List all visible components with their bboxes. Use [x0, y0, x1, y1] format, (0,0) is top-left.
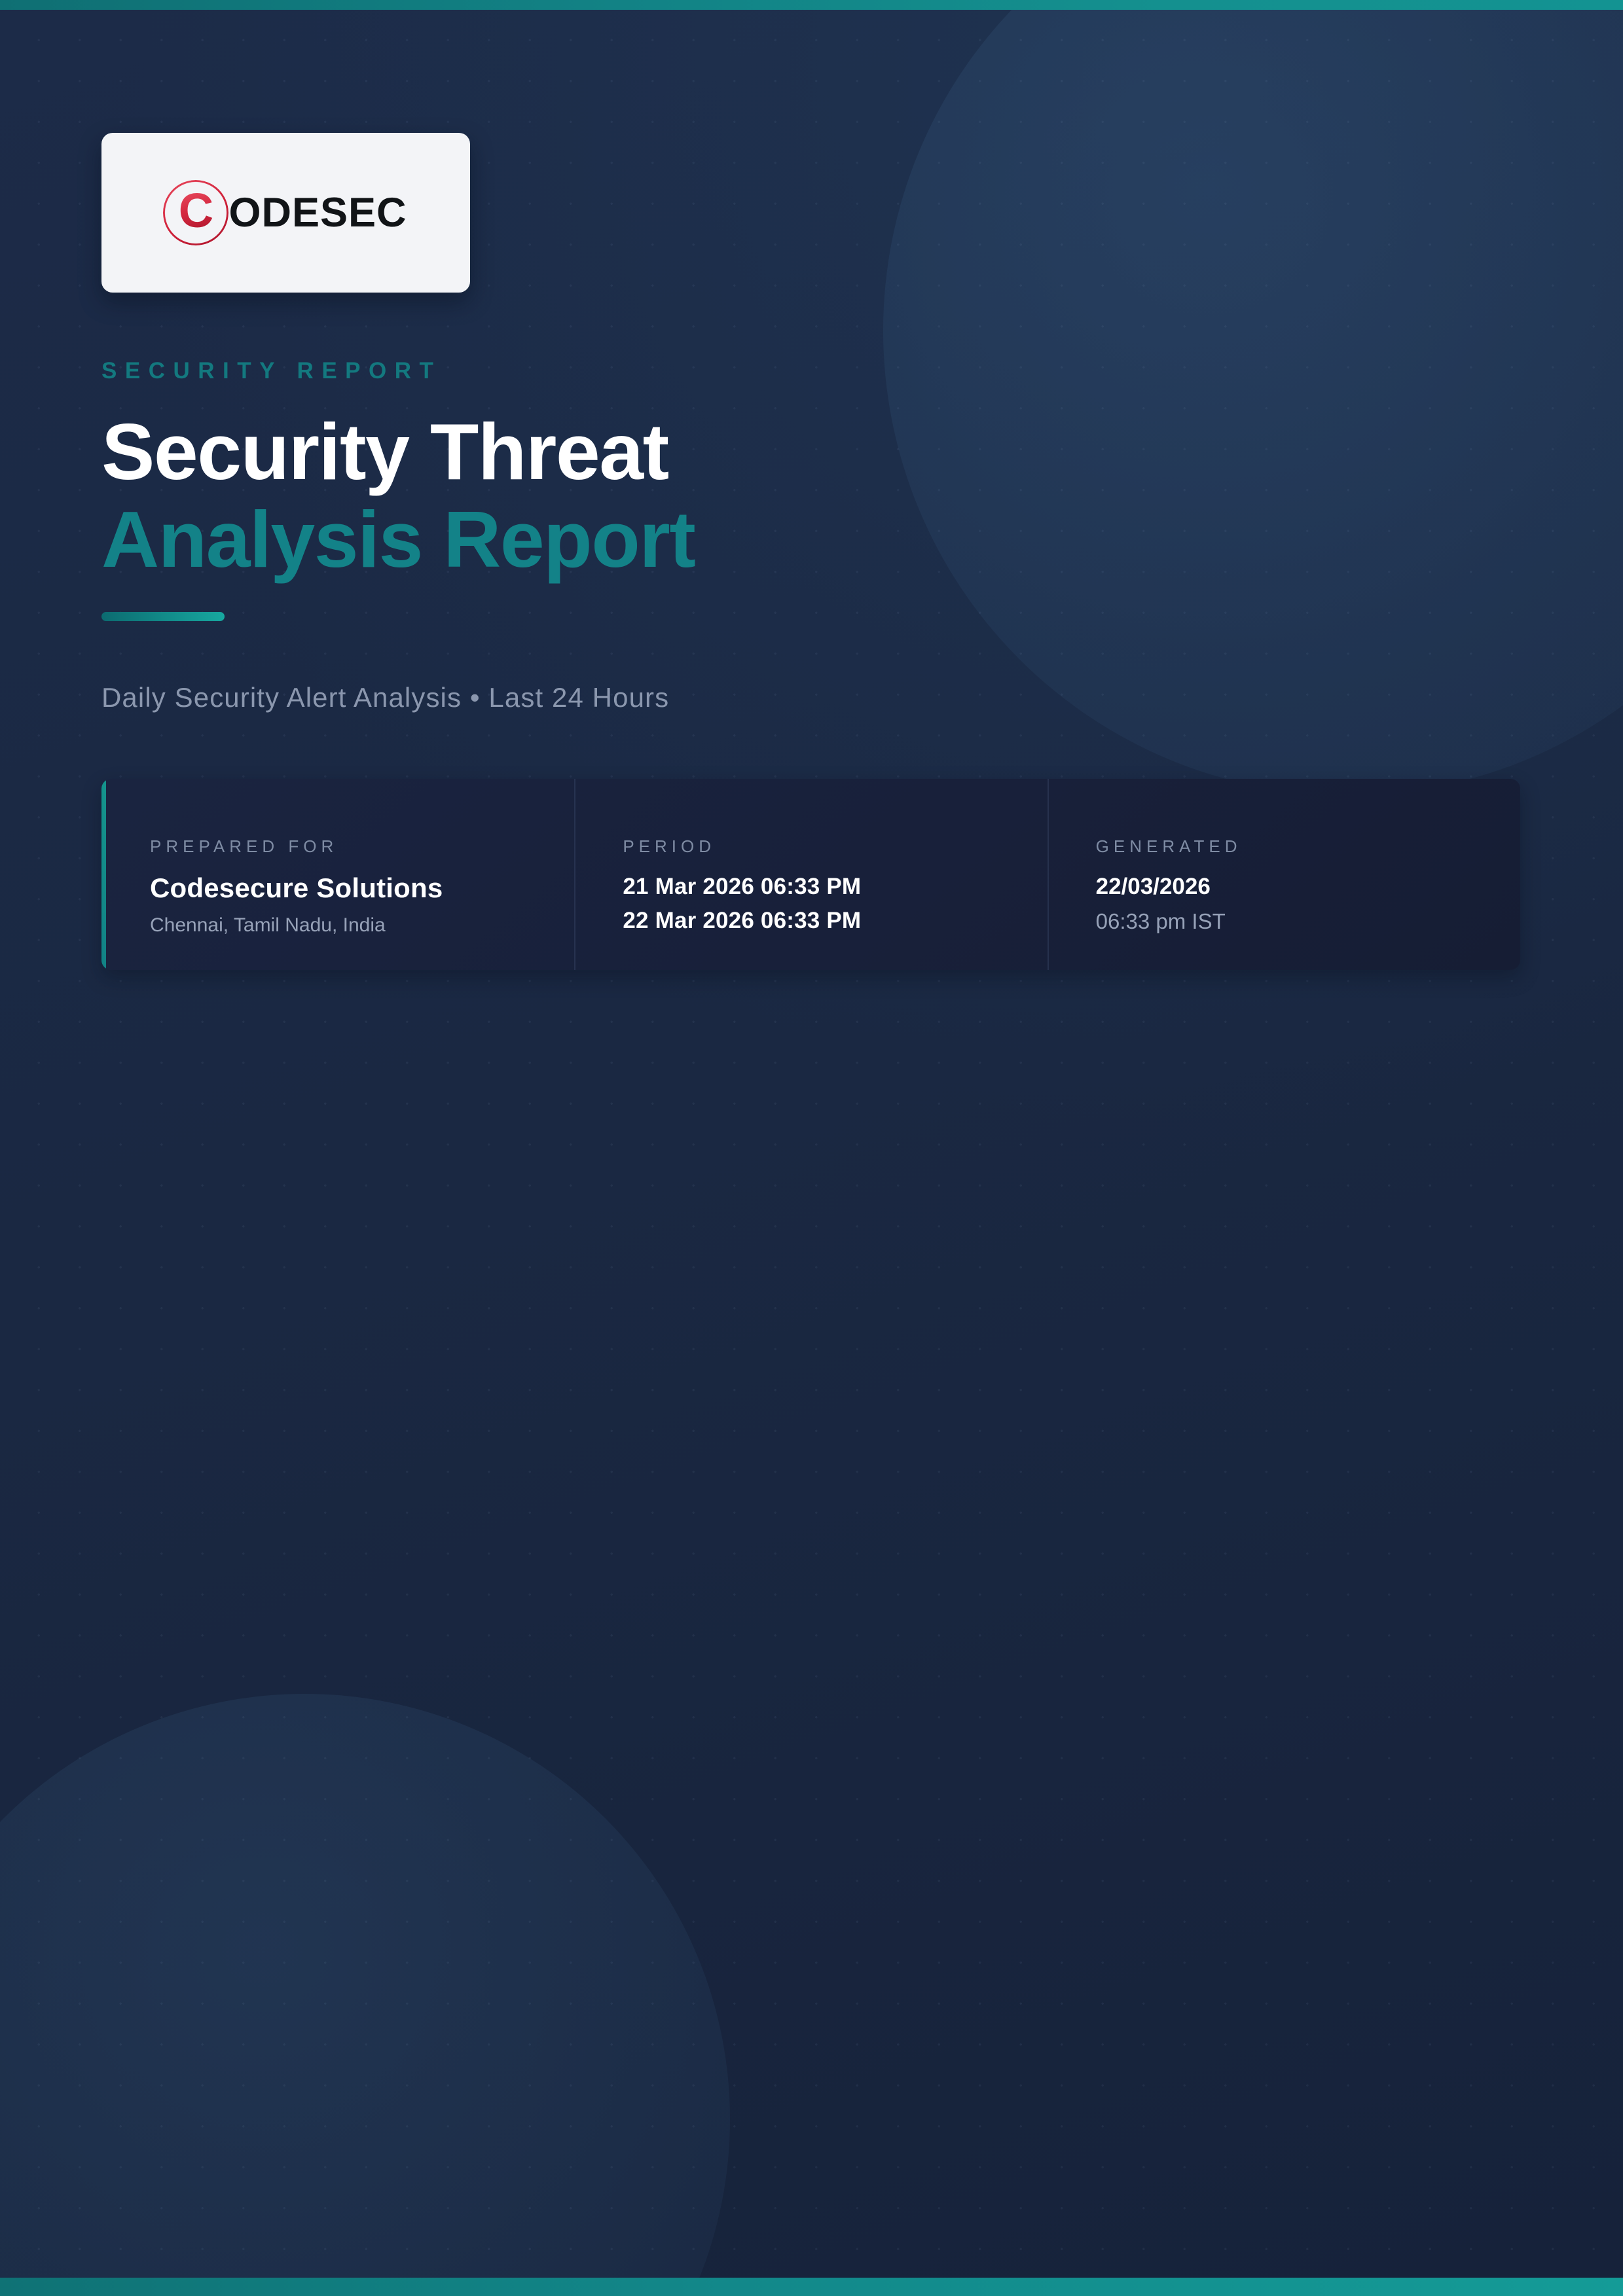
- meta-column-period: PERIOD 21 Mar 2026 06:33 PM 22 Mar 2026 …: [574, 779, 1047, 970]
- report-subtitle: Daily Security Alert Analysis • Last 24 …: [101, 682, 1522, 713]
- page-title-line-2: Analysis Report: [101, 495, 1522, 583]
- generated-date: 22/03/2026: [1096, 874, 1520, 900]
- bottom-accent-band: [0, 2278, 1623, 2296]
- page-title: Security Threat Analysis Report: [101, 408, 1522, 583]
- period-values: 21 Mar 2026 06:33 PM 22 Mar 2026 06:33 P…: [623, 874, 1047, 934]
- logo-wordmark: ODESEC: [228, 189, 407, 236]
- page-title-line-1: Security Threat: [101, 408, 1522, 495]
- logo-card: C ODESEC: [101, 133, 470, 293]
- period-start: 21 Mar 2026 06:33 PM: [623, 874, 1047, 900]
- report-eyebrow: SECURITY REPORT: [101, 358, 1522, 384]
- period-end: 22 Mar 2026 06:33 PM: [623, 908, 1047, 934]
- report-meta-card: PREPARED FOR Codesecure Solutions Chenna…: [101, 779, 1520, 970]
- logo-lockup: C ODESEC: [162, 179, 409, 247]
- cover-content: C ODESEC SECURITY REPORT Security Threat…: [101, 0, 1522, 970]
- report-cover-page: C ODESEC SECURITY REPORT Security Threat…: [0, 0, 1623, 2296]
- period-label: PERIOD: [623, 836, 1047, 857]
- title-underline-rule: [101, 612, 225, 621]
- prepared-for-organization: Codesecure Solutions: [150, 872, 574, 904]
- logo-letter-c: C: [179, 187, 213, 235]
- meta-column-generated: GENERATED 22/03/2026 06:33 pm IST: [1048, 779, 1520, 970]
- generated-time: 06:33 pm IST: [1096, 909, 1520, 934]
- prepared-for-label: PREPARED FOR: [150, 836, 574, 857]
- prepared-for-location: Chennai, Tamil Nadu, India: [150, 914, 574, 937]
- meta-column-prepared-for: PREPARED FOR Codesecure Solutions Chenna…: [101, 779, 574, 970]
- decorative-circle-bottom-left: [0, 1694, 730, 2296]
- generated-label: GENERATED: [1096, 836, 1520, 857]
- top-accent-band: [0, 0, 1623, 10]
- circled-c-logo-icon: C: [162, 179, 230, 247]
